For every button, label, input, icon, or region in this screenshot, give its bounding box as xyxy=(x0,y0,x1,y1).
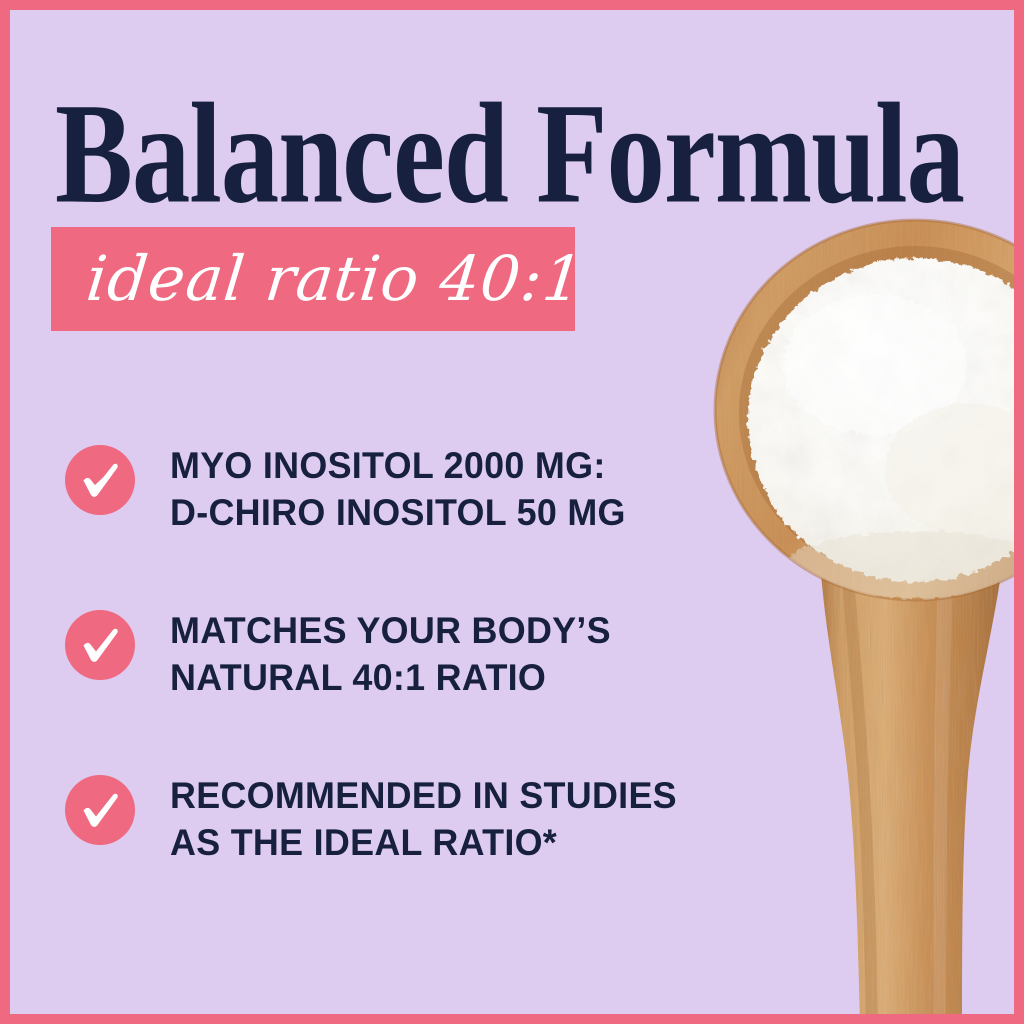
card-inner-area: Balanced Formula ideal ratio 40:1 MYO IN… xyxy=(10,10,1014,1014)
list-item-line: MATCHES YOUR BODY’S xyxy=(170,607,791,654)
list-item-line: AS THE IDEAL RATIO* xyxy=(170,819,791,866)
list-item-text: MYO INOSITOL 2000 MG: D-CHIRO INOSITOL 5… xyxy=(170,442,810,536)
list-item-line: NATURAL 40:1 RATIO xyxy=(170,654,791,701)
check-icon xyxy=(65,445,135,515)
check-icon xyxy=(65,775,135,845)
infographic-card: Balanced Formula ideal ratio 40:1 MYO IN… xyxy=(0,0,1024,1024)
list-item-line: MYO INOSITOL 2000 MG: xyxy=(170,442,791,489)
list-item-line: D-CHIRO INOSITOL 50 MG xyxy=(170,489,791,536)
benefits-list: MYO INOSITOL 2000 MG: D-CHIRO INOSITOL 5… xyxy=(10,10,1014,1014)
list-item-text: RECOMMENDED IN STUDIES AS THE IDEAL RATI… xyxy=(170,772,810,866)
list-item-line: RECOMMENDED IN STUDIES xyxy=(170,772,791,819)
check-icon xyxy=(65,610,135,680)
list-item-text: MATCHES YOUR BODY’S NATURAL 40:1 RATIO xyxy=(170,607,810,701)
